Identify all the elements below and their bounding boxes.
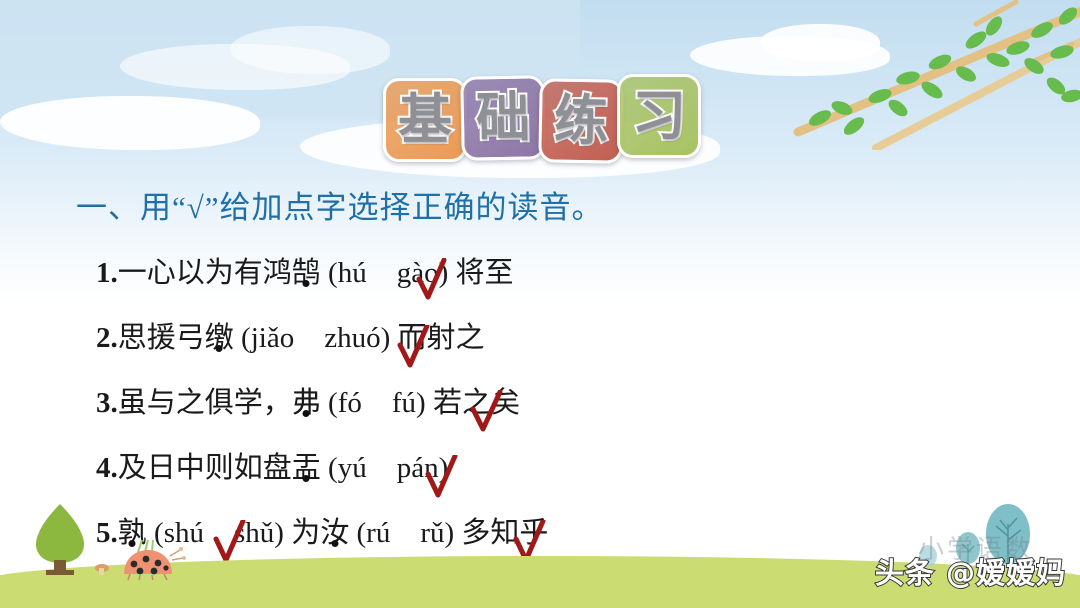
item-2-close-paren: ) (381, 322, 398, 354)
item-5-close-paren-2: ) (445, 517, 462, 549)
exercise-item-2: 2.思援弓缴 (jiǎozhuó) 而射之 (96, 313, 996, 378)
title-tile-3: 练 (538, 78, 623, 163)
item-1-option-a[interactable]: hú (338, 257, 367, 289)
scenery-left (18, 500, 218, 580)
item-4-option-a[interactable]: yú (338, 452, 367, 484)
page-title: 基 础 练 习 (383, 78, 695, 162)
item-3-text-after: 若之矣 (433, 385, 520, 419)
slide-canvas: 基 础 练 习 一、用“√”给加点字选择正确的读音。 1.一心以为有鸿鹄 (hú… (0, 0, 1080, 608)
item-5-text-after: 为 (291, 515, 320, 549)
title-tile-2-char: 础 (476, 91, 531, 146)
item-5-dotted-char-2: 汝 (320, 515, 349, 549)
item-5-text-after-2: 多知乎 (461, 515, 548, 549)
item-3-dotted-char: 弗 (292, 385, 321, 419)
item-1-number: 1. (96, 257, 118, 289)
item-2-text-after: 而射之 (398, 320, 485, 354)
cloud-shape-5 (0, 96, 260, 150)
item-5-open-paren-2: ( (349, 517, 366, 549)
item-4-open-paren: ( (321, 452, 338, 484)
item-2-option-a[interactable]: jiǎo (251, 322, 295, 354)
item-5-option2-a[interactable]: rú (366, 517, 390, 549)
item-2-open-paren: ( (234, 322, 251, 354)
item-2-dotted-char: 缴 (205, 320, 234, 354)
item-2-option-b[interactable]: zhuó (324, 322, 380, 354)
item-1-option-b[interactable]: gào (397, 257, 439, 289)
exercise-heading: 一、用“√”给加点字选择正确的读音。 (76, 182, 604, 227)
item-3-open-paren: ( (321, 387, 338, 419)
item-4-number: 4. (96, 452, 118, 484)
item-5-option2-b[interactable]: rǔ (420, 517, 444, 549)
item-3-option-b[interactable]: fú (392, 387, 416, 419)
title-tile-4: 习 (617, 74, 701, 158)
item-2-text-before: 思援弓 (118, 320, 205, 354)
title-tile-4-char: 习 (632, 89, 686, 143)
exercise-item-3: 3.虽与之俱学，弗 (fófú) 若之矣 (96, 378, 996, 443)
item-4-option-b[interactable]: pán (397, 452, 439, 484)
title-tile-2: 础 (460, 75, 545, 160)
exercise-item-1: 1.一心以为有鸿鹄 (húgào) 将至 (96, 248, 996, 313)
item-4-close-paren: ) (439, 452, 449, 484)
item-2-number: 2. (96, 322, 118, 354)
ladybug-icon (124, 540, 186, 580)
item-4-text-before: 及日中则如盘 (118, 450, 292, 484)
item-1-open-paren: ( (321, 257, 338, 289)
item-3-close-paren: ) (416, 387, 433, 419)
title-tile-1: 基 (383, 78, 467, 162)
exercise-item-4: 4.及日中则如盘盂 (yúpán) (96, 443, 996, 508)
title-tile-3-char: 练 (554, 94, 609, 149)
item-1-text-before: 一心以为有鸿 (118, 255, 292, 289)
title-tile-1-char: 基 (398, 93, 452, 147)
item-3-text-before: 虽与之俱学， (118, 385, 292, 419)
item-4-dotted-char: 盂 (292, 450, 321, 484)
item-3-option-a[interactable]: fó (338, 387, 362, 419)
item-3-number: 3. (96, 387, 118, 419)
tree-icon (36, 504, 84, 575)
mushroom-icon (95, 564, 109, 575)
item-1-dotted-char: 鹄 (292, 255, 321, 289)
watermark-main: 头条 @嫒嫒妈 (875, 550, 1066, 592)
item-1-text-after: 将至 (456, 255, 514, 289)
item-5-option-b[interactable]: shǔ (234, 517, 274, 549)
exercise-item-list: 1.一心以为有鸿鹄 (húgào) 将至 2.思援弓缴 (jiǎozhuó) 而… (96, 248, 996, 573)
tree-branch-icon (780, 0, 1080, 150)
item-1-close-paren: ) (439, 257, 456, 289)
item-5-close-paren: ) (274, 517, 291, 549)
